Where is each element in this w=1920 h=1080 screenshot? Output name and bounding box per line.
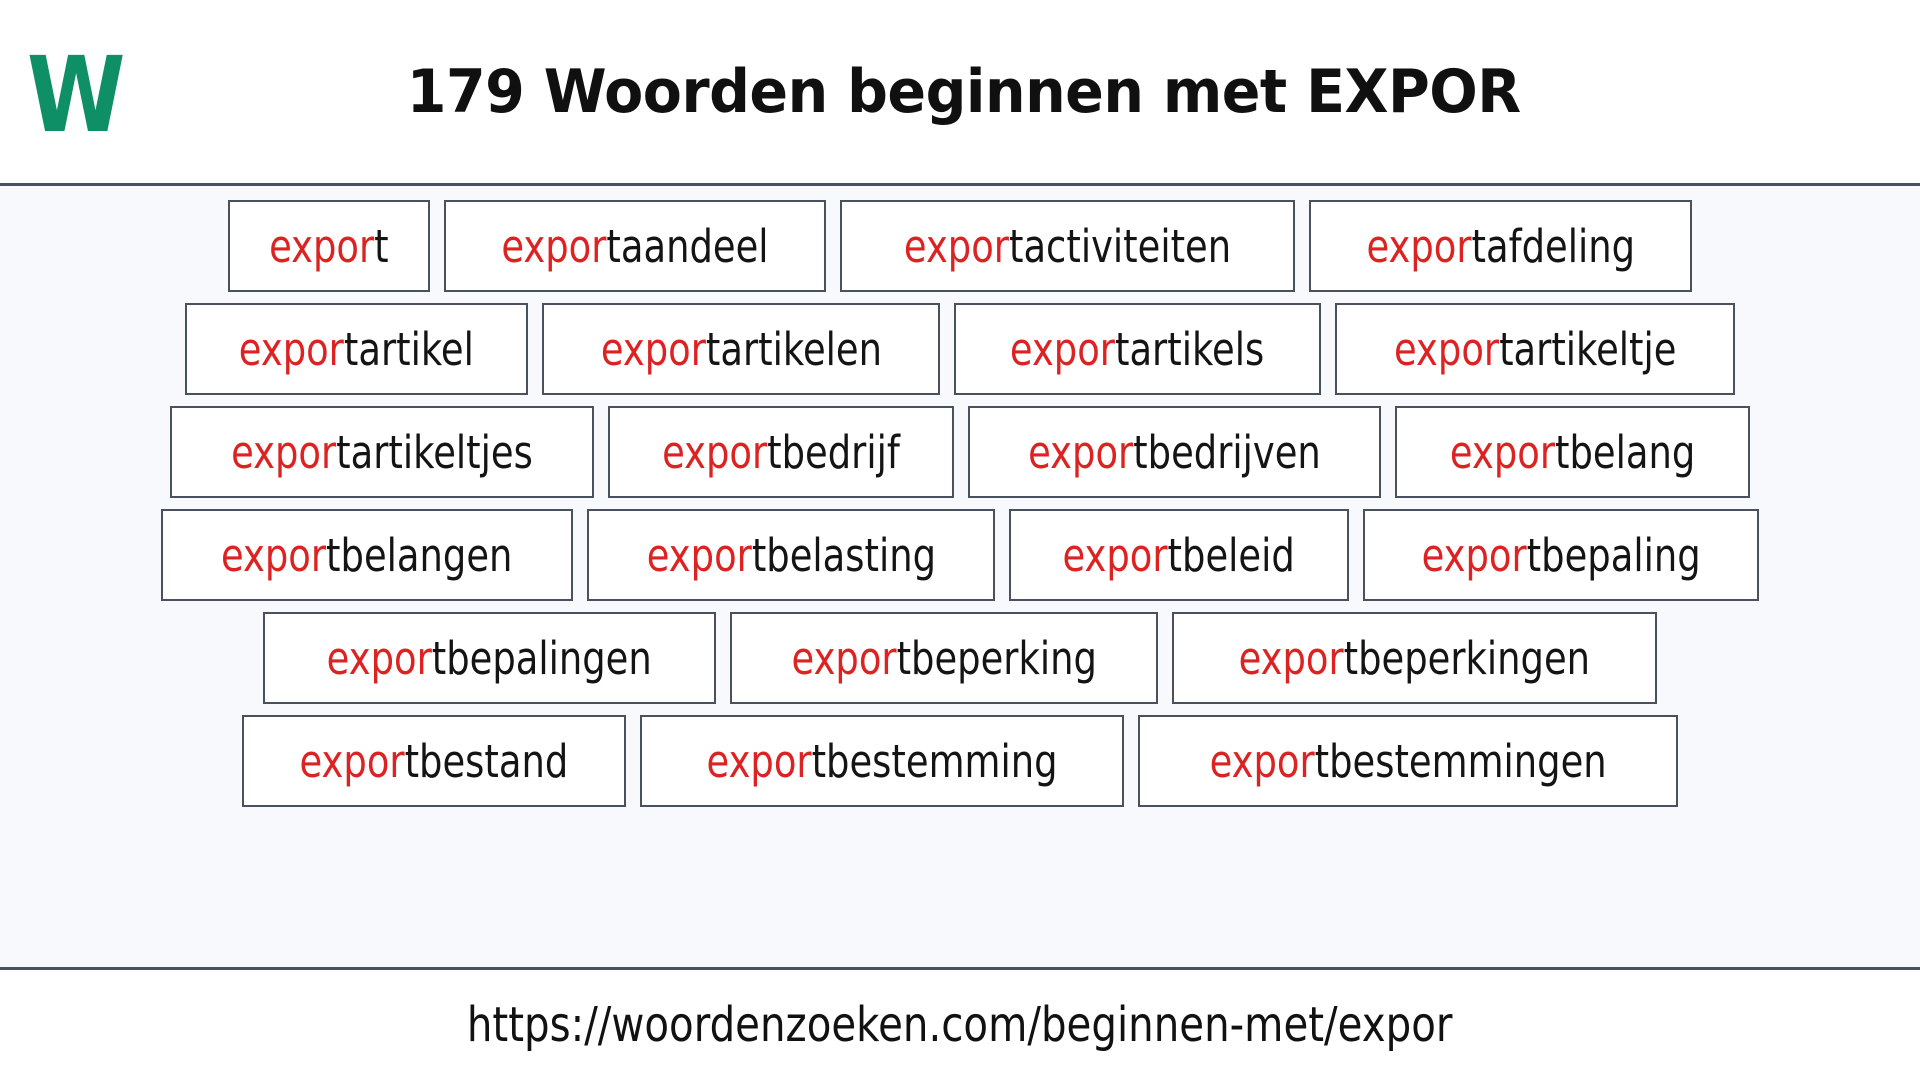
word-text: exportbedrijven [1028, 430, 1321, 475]
word-box[interactable]: exportartikels [954, 303, 1320, 395]
site-logo[interactable]: W [0, 0, 150, 183]
word-box[interactable]: export [228, 200, 430, 292]
logo-letter-w: W [27, 43, 124, 147]
word-suffix: tbestemmingen [1314, 735, 1606, 788]
word-prefix: expor [646, 529, 751, 582]
word-prefix: expor [791, 632, 896, 685]
word-row: exportartikeltjesexportbedrijfexportbedr… [0, 406, 1920, 498]
word-prefix: expor [1421, 529, 1526, 582]
word-text: exportaandeel [501, 224, 768, 269]
word-suffix: tbepalingen [432, 632, 652, 685]
word-text: exportbeperkingen [1239, 636, 1590, 681]
word-row: exportbestandexportbestemmingexportbeste… [0, 715, 1920, 807]
word-prefix: expor [1209, 735, 1314, 788]
word-text: exportbelasting [646, 533, 935, 578]
word-prefix: expor [299, 735, 404, 788]
word-prefix: expor [1063, 529, 1168, 582]
word-prefix: expor [1239, 632, 1344, 685]
word-text: exportartikels [1010, 327, 1264, 372]
word-text: exportartikelen [600, 327, 881, 372]
word-prefix: expor [1028, 426, 1133, 479]
word-text: exportbelangen [221, 533, 512, 578]
word-suffix: t [374, 220, 388, 273]
page-title: 179 Woorden beginnen met EXPOR [194, 57, 1876, 127]
word-prefix: expor [221, 529, 326, 582]
word-text: exportactiviteiten [903, 224, 1230, 269]
word-box[interactable]: exportbedrijven [968, 406, 1381, 498]
word-text: exportbeperking [791, 636, 1096, 681]
word-suffix: tbelangen [326, 529, 512, 582]
word-box[interactable]: exportbeleid [1009, 509, 1348, 601]
word-box[interactable]: exportafdeling [1309, 200, 1693, 292]
word-prefix: expor [1010, 323, 1115, 376]
word-suffix: tbedrijf [767, 426, 900, 479]
word-suffix: tactiviteiten [1009, 220, 1231, 273]
word-suffix: tbelasting [751, 529, 935, 582]
word-suffix: tafdeling [1471, 220, 1635, 273]
word-prefix: expor [1450, 426, 1555, 479]
word-box[interactable]: exportartikeltje [1335, 303, 1735, 395]
word-text: exportartikeltje [1394, 327, 1676, 372]
word-prefix: expor [501, 220, 606, 273]
word-suffix: tartikelen [706, 323, 882, 376]
word-box[interactable]: exportartikeltjes [170, 406, 594, 498]
word-suffix: tartikeltje [1499, 323, 1676, 376]
word-text: exportbelang [1450, 430, 1695, 475]
word-box[interactable]: exportbepaling [1363, 509, 1759, 601]
word-suffix: tbeperking [896, 632, 1096, 685]
word-prefix: expor [903, 220, 1008, 273]
word-box[interactable]: exportactiviteiten [840, 200, 1295, 292]
page-footer: https://woordenzoeken.com/beginnen-met/e… [0, 970, 1920, 1080]
word-suffix: taandeel [606, 220, 768, 273]
word-box[interactable]: exportbelang [1395, 406, 1750, 498]
word-text: exportartikel [239, 327, 474, 372]
word-text: export [269, 224, 389, 269]
word-box[interactable]: exportbeperking [730, 612, 1158, 704]
word-box[interactable]: exportbestemming [640, 715, 1124, 807]
word-suffix: tartikel [344, 323, 474, 376]
word-text: exportartikeltjes [231, 430, 533, 475]
word-box[interactable]: exportbeperkingen [1172, 612, 1657, 704]
word-suffix: tbeperkingen [1344, 632, 1590, 685]
word-list-container: exportexportaandeelexportactiviteitenexp… [0, 186, 1920, 970]
word-row: exportartikelexportartikelenexportartike… [0, 303, 1920, 395]
word-row: exportexportaandeelexportactiviteitenexp… [0, 200, 1920, 292]
word-row: exportbelangenexportbelastingexportbelei… [0, 509, 1920, 601]
word-text: exportbestemming [706, 739, 1057, 784]
word-box[interactable]: exportartikelen [542, 303, 941, 395]
word-prefix: expor [600, 323, 705, 376]
word-prefix: expor [1366, 220, 1471, 273]
word-suffix: tartikels [1115, 323, 1264, 376]
word-suffix: tbepaling [1526, 529, 1700, 582]
word-prefix: expor [239, 323, 344, 376]
word-suffix: tbestemming [811, 735, 1057, 788]
word-box[interactable]: exportartikel [185, 303, 528, 395]
word-prefix: expor [1394, 323, 1499, 376]
word-suffix: tbelang [1555, 426, 1695, 479]
word-suffix: tbestand [405, 735, 569, 788]
word-prefix: expor [662, 426, 767, 479]
word-box[interactable]: exportbestand [242, 715, 626, 807]
word-text: exportbestemmingen [1209, 739, 1606, 784]
word-text: exportbepalingen [327, 636, 652, 681]
word-text: exportbeleid [1063, 533, 1295, 578]
word-suffix: tbeleid [1168, 529, 1295, 582]
source-url[interactable]: https://woordenzoeken.com/beginnen-met/e… [467, 997, 1453, 1053]
page-root: W 179 Woorden beginnen met EXPOR exporte… [0, 0, 1920, 1080]
word-box[interactable]: exportbelangen [161, 509, 572, 601]
word-prefix: expor [269, 220, 374, 273]
word-row: exportbepalingenexportbeperkingexportbep… [0, 612, 1920, 704]
word-prefix: expor [231, 426, 336, 479]
word-prefix: expor [706, 735, 811, 788]
page-header: W 179 Woorden beginnen met EXPOR [0, 0, 1920, 186]
word-text: exportbedrijf [662, 430, 900, 475]
word-box[interactable]: exportbelasting [587, 509, 996, 601]
word-box[interactable]: exportbedrijf [608, 406, 954, 498]
word-text: exportafdeling [1366, 224, 1635, 269]
word-suffix: tbedrijven [1133, 426, 1321, 479]
word-box[interactable]: exportbestemmingen [1138, 715, 1678, 807]
word-prefix: expor [327, 632, 432, 685]
word-text: exportbestand [299, 739, 568, 784]
word-box[interactable]: exportbepalingen [263, 612, 715, 704]
word-suffix: tartikeltjes [336, 426, 533, 479]
word-box[interactable]: exportaandeel [444, 200, 826, 292]
word-text: exportbepaling [1421, 533, 1700, 578]
